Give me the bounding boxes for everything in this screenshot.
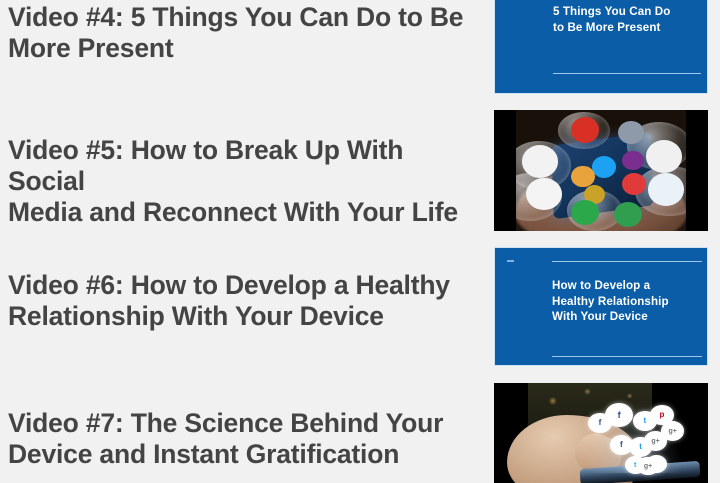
video-thumbnail-4[interactable]: 5 Things You Can Do to Be More Present xyxy=(494,0,708,94)
photo-hand-phone-bubbles xyxy=(494,110,708,231)
video-title-6[interactable]: Video #6: How to Develop a Healthy Relat… xyxy=(8,270,470,332)
app-icon-apple xyxy=(646,140,682,173)
app-icon-skype xyxy=(592,156,616,178)
slide-title-text: How to Develop a Healthy Relationship Wi… xyxy=(552,278,707,325)
video-thumbnail-7[interactable]: f f f t t t p p g+ g+ g+ xyxy=(494,383,708,483)
app-icon-youtube xyxy=(622,173,646,195)
slide-corner-dash xyxy=(507,260,514,262)
video-thumbnail-5[interactable] xyxy=(494,110,708,231)
app-icon-bing xyxy=(571,166,595,188)
app-icon-camera xyxy=(522,145,558,178)
video-title-7[interactable]: Video #7: The Science Behind Your Device… xyxy=(8,408,470,470)
slide-divider-rule xyxy=(553,73,701,74)
slide-top-rule xyxy=(552,261,702,262)
letterbox-bar-left xyxy=(494,110,516,231)
video-thumbnails-column: 5 Things You Can Do to Be More Present xyxy=(494,0,710,480)
app-icon-whatsapp xyxy=(571,200,599,225)
video-title-4[interactable]: Video #4: 5 Things You Can Do to Be More… xyxy=(8,2,470,64)
video-title-5[interactable]: Video #5: How to Break Up With Social Me… xyxy=(8,135,470,228)
slide-bottom-rule xyxy=(552,356,702,357)
video-titles-column: Video #4: 5 Things You Can Do to Be More… xyxy=(0,0,480,480)
photo-finger-tapping-phone: f f f t t t p p g+ g+ g+ xyxy=(494,383,708,483)
googleplus-icon: g+ xyxy=(637,457,658,475)
slide-card: 5 Things You Can Do to Be More Present xyxy=(494,0,708,94)
facebook-icon: f xyxy=(588,413,612,433)
app-icon-envelope xyxy=(618,121,644,144)
letterbox-bar-right xyxy=(686,110,708,231)
video-thumbnail-6[interactable]: How to Develop a Healthy Relationship Wi… xyxy=(494,247,708,366)
slide-title-text: 5 Things You Can Do to Be More Present xyxy=(553,4,703,35)
video-list-page: Video #4: 5 Things You Can Do to Be More… xyxy=(0,0,720,480)
app-icon-dropbox xyxy=(648,173,684,206)
app-icon-play xyxy=(614,202,642,227)
slide-card: How to Develop a Healthy Relationship Wi… xyxy=(494,247,708,366)
app-icon-instagram-red xyxy=(571,117,599,142)
